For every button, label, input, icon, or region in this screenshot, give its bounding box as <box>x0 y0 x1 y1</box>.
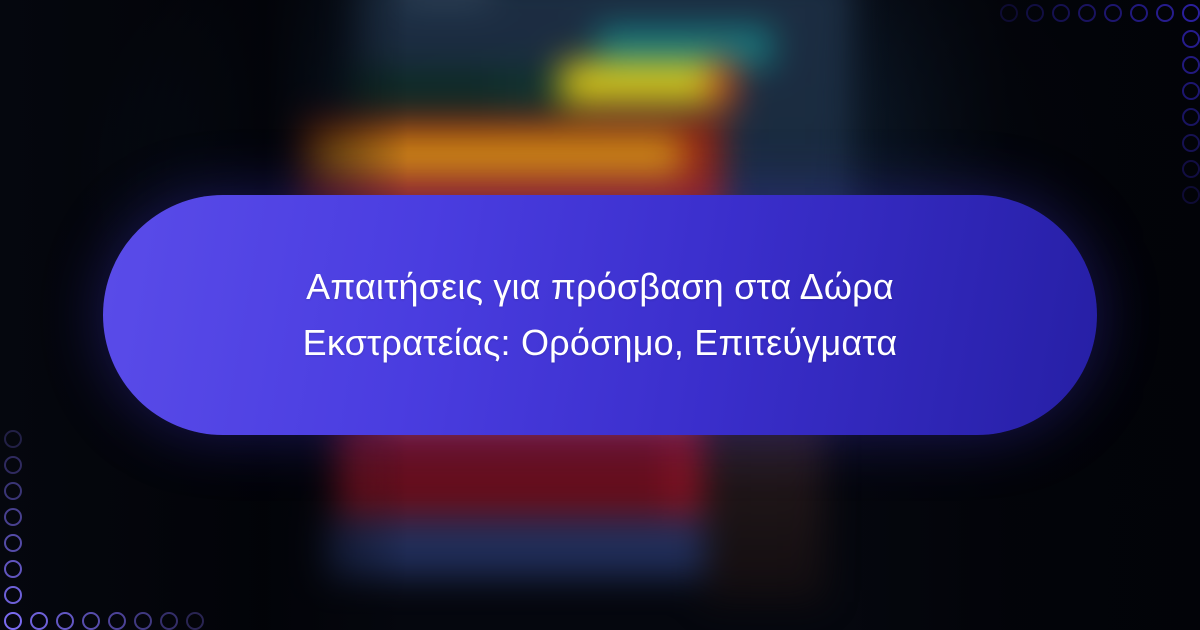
decorative-circle <box>1130 4 1148 22</box>
title-banner: Απαιτήσεις για πρόσβαση στα Δώρα Εκστρατ… <box>103 195 1097 435</box>
decorative-circle <box>1182 108 1200 126</box>
social-card: Απαιτήσεις για πρόσβαση στα Δώρα Εκστρατ… <box>0 0 1200 630</box>
decorative-circle <box>1104 4 1122 22</box>
decorative-circle <box>30 612 48 630</box>
decorative-circle <box>1182 82 1200 100</box>
decorative-circle <box>4 560 22 578</box>
decorative-circle <box>1182 186 1200 204</box>
decorative-circle <box>4 612 22 630</box>
decorative-circle <box>4 586 22 604</box>
page-title: Απαιτήσεις για πρόσβαση στα Δώρα Εκστρατ… <box>220 259 980 371</box>
decorative-circle <box>1182 134 1200 152</box>
decorative-circle <box>1052 4 1070 22</box>
decorative-circle <box>82 612 100 630</box>
decorative-circle <box>1078 4 1096 22</box>
decorative-circle <box>4 430 22 448</box>
decorative-circle <box>186 612 204 630</box>
decorative-circle <box>4 508 22 526</box>
decorative-circle <box>4 534 22 552</box>
decorative-circle <box>160 612 178 630</box>
decorative-circle <box>1182 56 1200 74</box>
decorative-circle <box>1182 160 1200 178</box>
decorative-circle <box>134 612 152 630</box>
decorative-circle <box>1000 4 1018 22</box>
decorative-circle <box>108 612 126 630</box>
decorative-circle <box>1182 30 1200 48</box>
decorative-circle <box>1026 4 1044 22</box>
decorative-circle <box>56 612 74 630</box>
decorative-circle <box>1182 4 1200 22</box>
decorative-circle <box>4 456 22 474</box>
decorative-circle <box>4 482 22 500</box>
decorative-circle <box>1156 4 1174 22</box>
